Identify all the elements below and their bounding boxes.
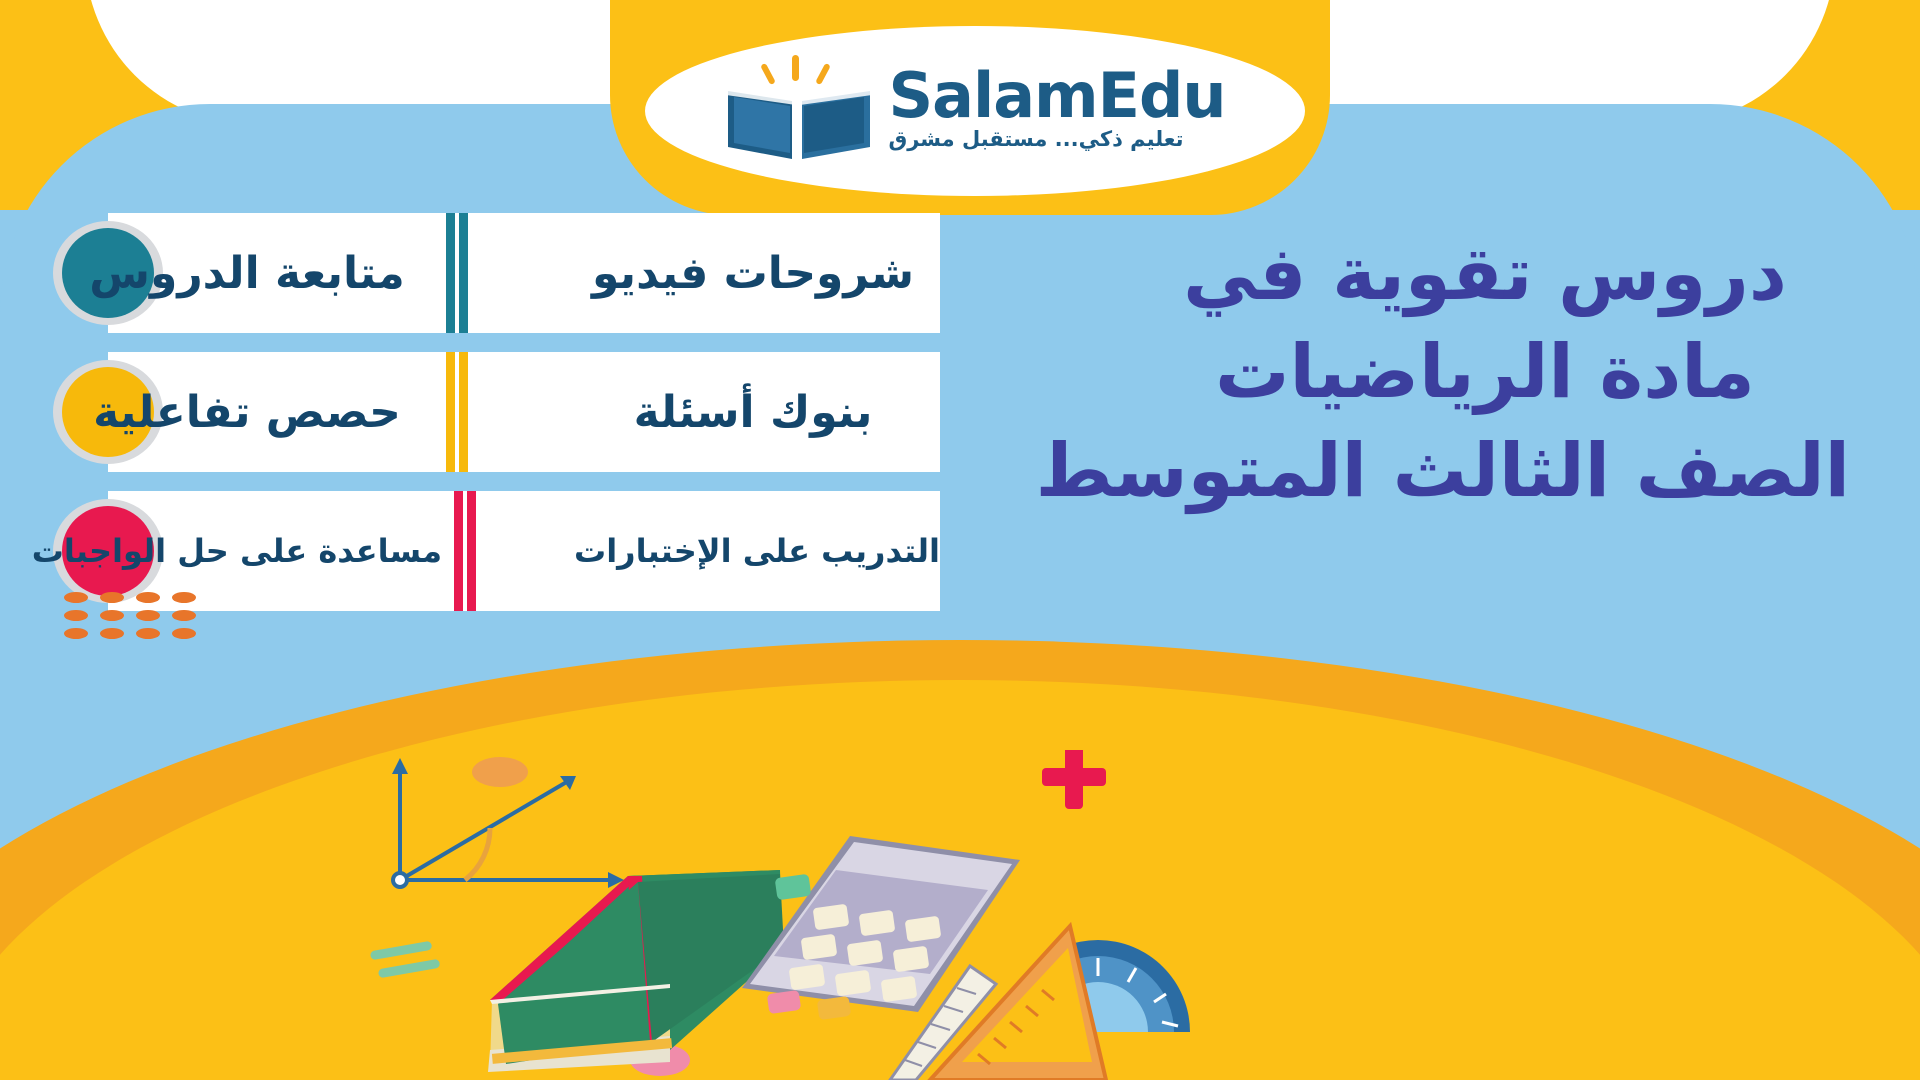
feature-row[interactable]: شروحات فيديو متابعة الدروس bbox=[60, 213, 940, 333]
poster-canvas: SalamEdu تعليم ذكي... مستقبل مشرق bbox=[0, 0, 1920, 1080]
book-icon bbox=[488, 870, 784, 1072]
brand-logo: SalamEdu تعليم ذكي... مستقبل مشرق bbox=[645, 26, 1305, 196]
open-book-icon bbox=[724, 55, 874, 163]
feature-list: شروحات فيديو متابعة الدروس بنوك أسئلة حص… bbox=[60, 213, 940, 630]
green-dash-decoration bbox=[370, 941, 440, 979]
feature-divider bbox=[452, 491, 478, 611]
headline-line-3: الصف الثالث المتوسط bbox=[1120, 422, 1850, 520]
feature-row[interactable]: بنوك أسئلة حصص تفاعلية bbox=[60, 352, 940, 472]
headline-line-2: مادة الرياضيات bbox=[1120, 323, 1850, 421]
feature-label-right: حصص تفاعلية bbox=[60, 387, 444, 438]
brand-tagline: تعليم ذكي... مستقبل مشرق bbox=[888, 127, 1183, 151]
feature-divider bbox=[444, 352, 470, 472]
brand-name: SalamEdu bbox=[888, 67, 1225, 126]
plus-sign-icon bbox=[1042, 750, 1106, 809]
orange-ellipse bbox=[472, 757, 528, 787]
feature-label-right: متابعة الدروس bbox=[60, 248, 444, 299]
feature-label-left: بنوك أسئلة bbox=[470, 387, 940, 438]
feature-label-left: شروحات فيديو bbox=[470, 248, 940, 299]
stationery-illustration bbox=[370, 750, 1290, 1080]
feature-label-right: مساعدة على حل الواجبات bbox=[32, 532, 452, 570]
headline-line-1: دروس تقوية في bbox=[1120, 225, 1850, 323]
feature-label-left: التدريب على الإختبارات bbox=[478, 532, 940, 570]
dot-decoration bbox=[62, 592, 196, 639]
headline-block: دروس تقوية في مادة الرياضيات الصف الثالث… bbox=[1120, 225, 1850, 520]
feature-divider bbox=[444, 213, 470, 333]
